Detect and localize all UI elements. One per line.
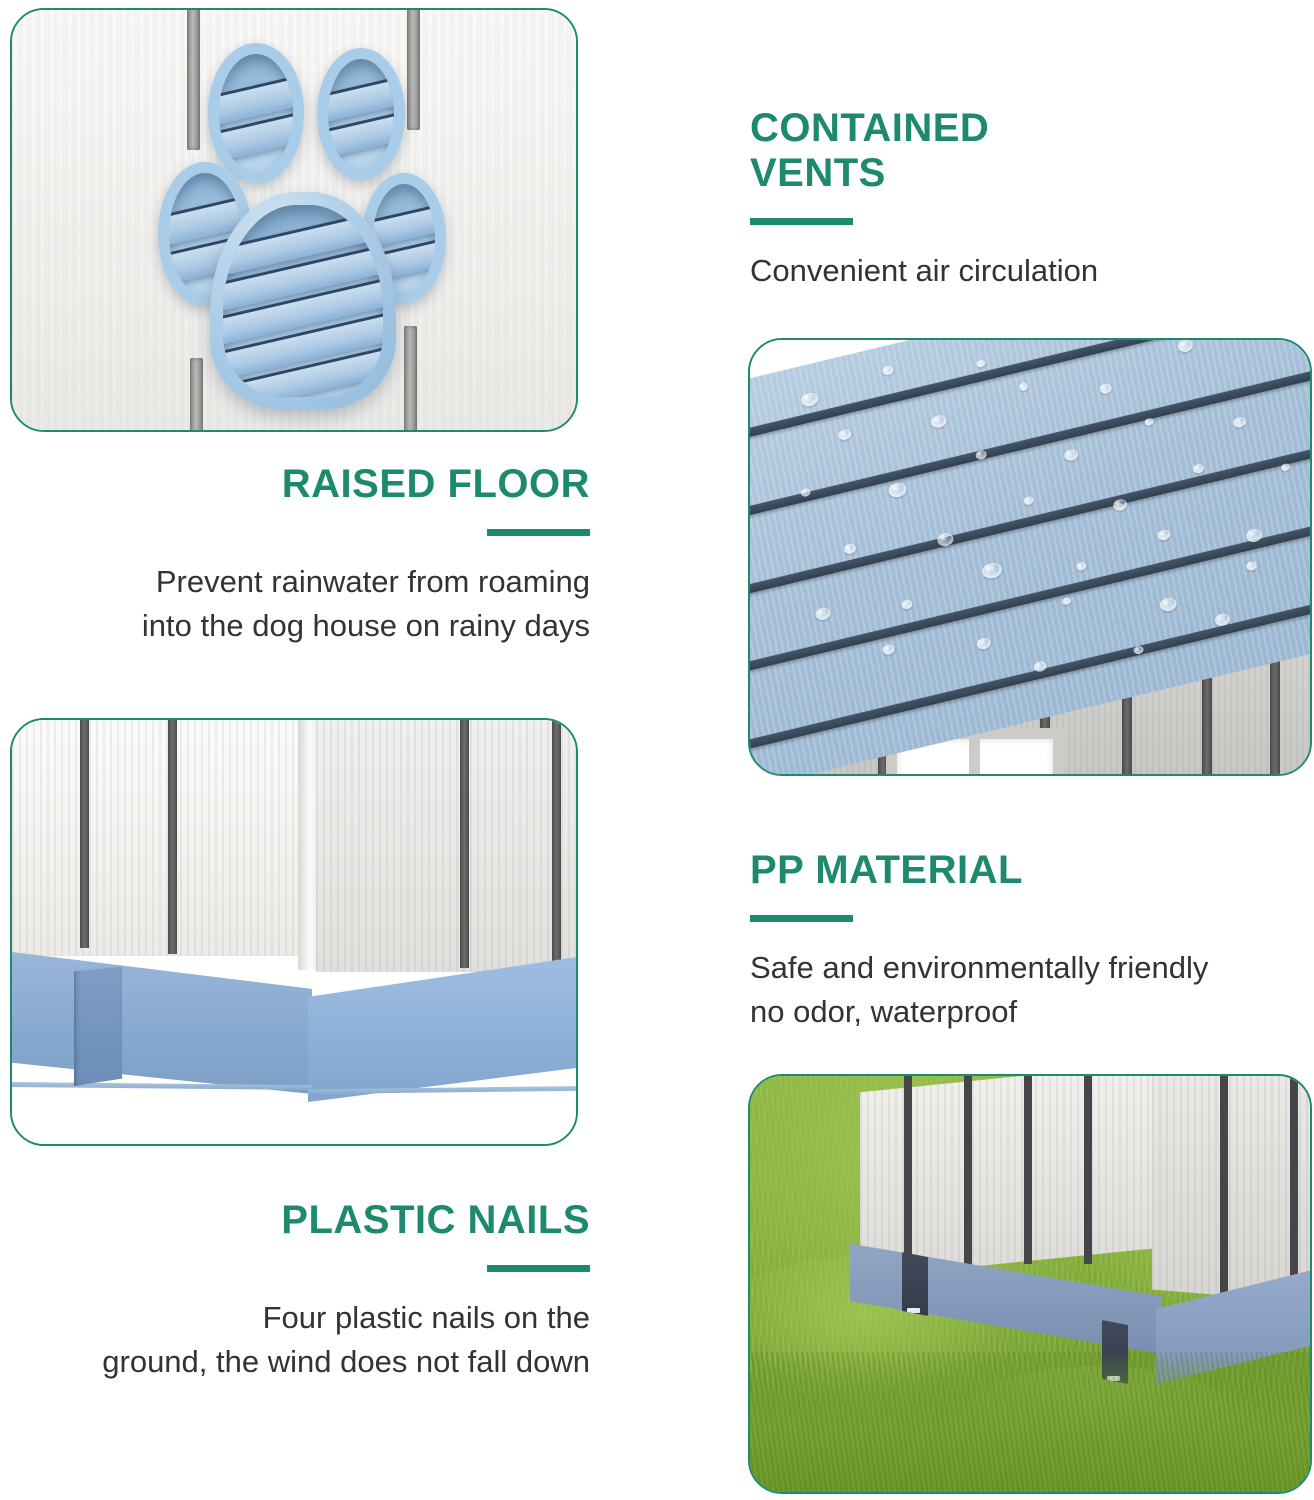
water-droplet [887,481,908,499]
water-droplet [1156,528,1171,541]
roof-plank-seam [748,504,1312,680]
wall-seam [904,1074,912,1268]
wall-seam [1084,1074,1092,1264]
title-underline [750,915,853,922]
wall-seam [168,720,177,954]
feature-title: PP MATERIAL [750,848,1310,893]
water-droplet [1063,448,1079,462]
wall-seam [1024,1074,1032,1264]
plastic-nail-stake [902,1252,928,1316]
wall-seam [1270,652,1280,776]
toe-vent-well [219,54,293,172]
water-droplet [1099,382,1113,395]
door-mullion [969,739,980,776]
water-droplet [1075,561,1087,571]
water-droplet [837,428,852,441]
wall-seam [1220,1074,1228,1298]
water-droplet [799,391,819,408]
water-droplet [842,542,856,555]
toe-vent-well [328,59,394,169]
wall-seam [460,720,469,968]
raised-base-left-face [12,952,312,1094]
wall-seam [552,720,561,972]
feature-title: PLASTIC NAILS [30,1198,590,1243]
title-underline [487,1265,590,1272]
feature-block-raised-floor: RAISED FLOOR Prevent rainwater from roam… [30,462,590,648]
image-card-raised-floor [748,338,1312,776]
house-wall-right [316,720,578,972]
water-droplet [1280,462,1290,471]
water-droplet [976,637,992,651]
water-droplet [1023,495,1035,505]
feature-description: Convenient air circulation [750,249,1310,293]
image-card-pp-material [748,1074,1312,1494]
house-wall-side [1152,1074,1312,1304]
toe-vent [208,43,304,183]
plastic-nail-notch [74,964,122,1086]
water-droplet [930,413,948,428]
water-droplet [1158,597,1178,614]
base-tray-illustration [12,720,576,1144]
raised-base-right-face [308,956,578,1102]
grass-illustration [750,1076,1310,1492]
image-card-plastic-nails [10,718,578,1146]
feature-description: Safe and environmentally friendly no odo… [750,946,1310,1034]
feature-description: Prevent rainwater from roaming into the … [30,560,590,648]
main-pad-vent [210,192,396,410]
title-underline [750,218,853,225]
water-droplet [1192,463,1205,474]
main-pad-vent-well [223,205,383,397]
water-droplet [881,644,895,657]
title-underline [487,529,590,536]
feature-description: Four plastic nails on the ground, the wi… [30,1296,590,1384]
water-droplet [881,365,894,376]
wall-seam [964,1074,972,1266]
wall-seam [1290,1074,1298,1304]
wall-seam [80,720,89,948]
toe-vent [317,48,405,180]
water-droplet [1062,597,1072,606]
water-droplet [1144,417,1154,426]
feature-block-plastic-nails: PLASTIC NAILS Four plastic nails on the … [30,1198,590,1384]
feature-title: RAISED FLOOR [30,462,590,507]
water-droplet [980,561,1003,580]
image-card-contained-vents [10,8,578,432]
water-droplet [1245,561,1258,572]
water-droplet [814,606,831,621]
water-droplet [900,598,913,609]
foreground-grass [750,1352,1310,1492]
water-droplet [1177,338,1194,353]
feature-title: CONTAINED VENTS [750,106,1310,196]
roof-plank-seam [748,356,1312,532]
vents-illustration [12,10,576,430]
water-droplet [1232,415,1247,428]
feature-block-contained-vents: CONTAINED VENTS Convenient air circulati… [750,106,1310,293]
roof-plank-seam [748,430,1312,606]
roof-illustration [750,340,1310,774]
feature-block-pp-material: PP MATERIAL Safe and environmentally fri… [750,848,1310,1034]
house-wall-left [12,720,308,956]
water-droplet [975,359,985,368]
paw-print-vent [12,10,576,430]
water-droplet [1017,382,1028,392]
